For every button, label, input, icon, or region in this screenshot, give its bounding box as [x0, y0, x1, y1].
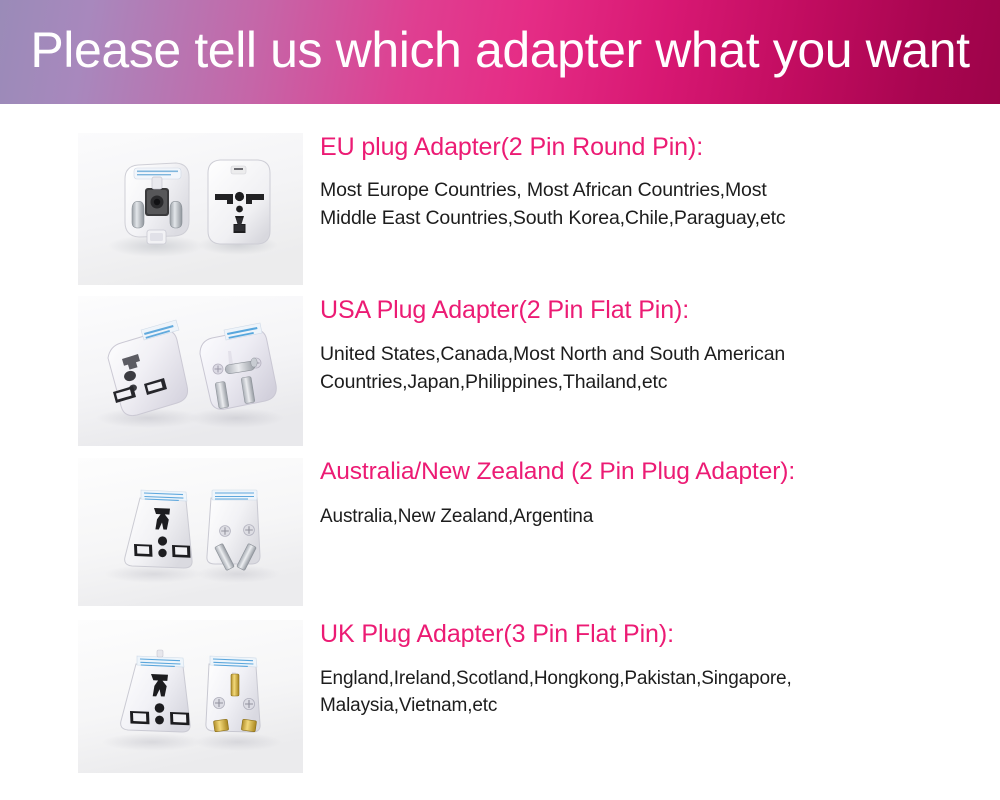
list-item[interactable]: EU plug Adapter(2 Pin Round Pin): Most E… [0, 133, 1000, 285]
uk-text-block: UK Plug Adapter(3 Pin Flat Pin): England… [320, 620, 960, 720]
eu-heading: EU plug Adapter(2 Pin Round Pin): [320, 133, 960, 161]
uk-description-line: England,Ireland,Scotland,Hongkong,Pakist… [320, 666, 960, 693]
usa-description-line: Countries,Japan,Philippines,Thailand,etc [320, 369, 960, 397]
uk-description-line: Malaysia,Vietnam,etc [320, 693, 960, 720]
page-banner: Please tell us which adapter what you wa… [0, 0, 1000, 104]
usa-text-block: USA Plug Adapter(2 Pin Flat Pin): United… [320, 296, 960, 396]
eu-description-line: Middle East Countries,South Korea,Chile,… [320, 205, 960, 233]
page-title: Please tell us which adapter what you wa… [30, 25, 969, 79]
list-item[interactable]: USA Plug Adapter(2 Pin Flat Pin): United… [0, 296, 1000, 446]
uk-plug-adapter-photo [78, 620, 303, 773]
au-nz-description: Australia,New Zealand,Argentina [320, 504, 960, 531]
usa-plug-adapter-photo [78, 296, 303, 446]
list-item[interactable]: Australia/New Zealand (2 Pin Plug Adapte… [0, 458, 1000, 606]
au-nz-heading: Australia/New Zealand (2 Pin Plug Adapte… [320, 458, 960, 485]
usa-description-line: United States,Canada,Most North and Sout… [320, 341, 960, 369]
uk-heading: UK Plug Adapter(3 Pin Flat Pin): [320, 620, 960, 648]
eu-description: Most Europe Countries, Most African Coun… [320, 177, 960, 232]
australia-plug-adapter-photo [78, 458, 303, 606]
eu-text-block: EU plug Adapter(2 Pin Round Pin): Most E… [320, 133, 960, 232]
adapter-selection-page: Please tell us which adapter what you wa… [0, 0, 1000, 800]
eu-plug-adapter-photo [78, 133, 303, 285]
usa-description: United States,Canada,Most North and Sout… [320, 341, 960, 396]
au-nz-description-line: Australia,New Zealand,Argentina [320, 504, 960, 531]
eu-description-line: Most Europe Countries, Most African Coun… [320, 177, 960, 205]
list-item[interactable]: UK Plug Adapter(3 Pin Flat Pin): England… [0, 620, 1000, 773]
uk-description: England,Ireland,Scotland,Hongkong,Pakist… [320, 666, 960, 720]
au-nz-text-block: Australia/New Zealand (2 Pin Plug Adapte… [320, 458, 960, 531]
usa-heading: USA Plug Adapter(2 Pin Flat Pin): [320, 296, 960, 324]
